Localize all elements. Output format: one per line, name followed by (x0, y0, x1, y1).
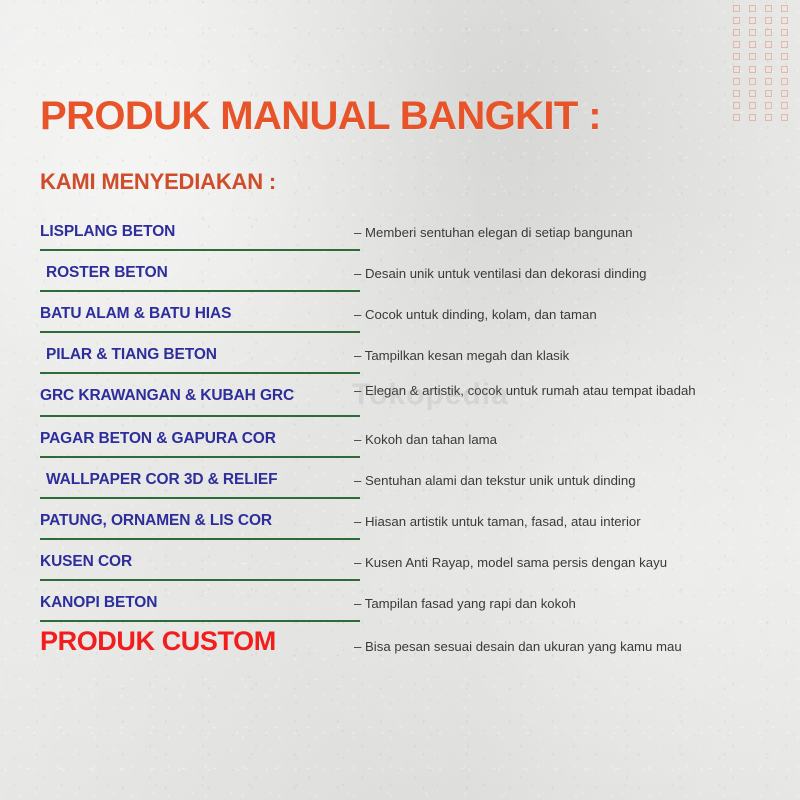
product-list: LISPLANG BETON – Memberi sentuhan elegan… (0, 213, 800, 666)
grid-square-icon (733, 5, 740, 12)
product-label: GRC KRAWANGAN & KUBAH GRC (40, 388, 294, 404)
grid-square-icon (765, 114, 772, 121)
grid-square-icon (781, 5, 788, 12)
decorative-square-grid-icon (728, 2, 792, 124)
grid-square-icon (749, 29, 756, 36)
row-divider (40, 538, 360, 540)
grid-square-icon (781, 53, 788, 60)
row-divider (40, 331, 360, 333)
grid-square-icon (781, 29, 788, 36)
product-label: ROSTER BETON (46, 265, 168, 281)
list-item: PAGAR BETON & GAPURA COR – Kokoh dan tah… (0, 420, 800, 461)
list-item-custom: PRODUK CUSTOM – Bisa pesan sesuai desain… (0, 625, 800, 666)
section-subtitle: KAMI MENYEDIAKAN : (40, 171, 276, 193)
grid-square-icon (781, 90, 788, 97)
grid-square-icon (765, 66, 772, 73)
product-label: PAGAR BETON & GAPURA COR (40, 431, 276, 447)
product-label: PILAR & TIANG BETON (46, 347, 217, 363)
row-divider (40, 249, 360, 251)
grid-square-icon (733, 90, 740, 97)
grid-square-icon (765, 5, 772, 12)
grid-square-icon (733, 102, 740, 109)
grid-square-icon (765, 78, 772, 85)
grid-square-icon (781, 114, 788, 121)
product-label: PATUNG, ORNAMEN & LIS COR (40, 513, 272, 529)
grid-square-icon (733, 78, 740, 85)
grid-square-icon (749, 5, 756, 12)
grid-square-icon (781, 41, 788, 48)
grid-square-icon (765, 102, 772, 109)
grid-square-icon (765, 90, 772, 97)
grid-square-icon (749, 78, 756, 85)
grid-square-icon (781, 66, 788, 73)
list-item: BATU ALAM & BATU HIAS – Cocok untuk dind… (0, 295, 800, 336)
product-label: LISPLANG BETON (40, 224, 175, 240)
grid-square-icon (749, 66, 756, 73)
row-divider (40, 290, 360, 292)
grid-square-icon (765, 29, 772, 36)
page-title: PRODUK MANUAL BANGKIT : (40, 96, 601, 136)
list-item: GRC KRAWANGAN & KUBAH GRC – Elegan & art… (0, 377, 800, 420)
product-label-custom: PRODUK CUSTOM (40, 628, 276, 655)
grid-square-icon (765, 41, 772, 48)
grid-square-icon (781, 78, 788, 85)
list-item: KANOPI BETON – Tampilan fasad yang rapi … (0, 584, 800, 625)
grid-square-icon (733, 29, 740, 36)
grid-square-icon (749, 90, 756, 97)
grid-square-icon (733, 17, 740, 24)
poster-canvas: PRODUK MANUAL BANGKIT : KAMI MENYEDIAKAN… (0, 0, 800, 800)
grid-square-icon (733, 53, 740, 60)
grid-square-icon (749, 41, 756, 48)
grid-square-icon (765, 53, 772, 60)
row-divider (40, 415, 360, 417)
product-description: – Memberi sentuhan elegan di setiap bang… (354, 225, 633, 242)
product-description: – Kokoh dan tahan lama (354, 432, 497, 449)
product-description: – Elegan & artistik, cocok untuk rumah a… (354, 383, 744, 400)
product-label: KUSEN COR (40, 554, 132, 570)
product-label: BATU ALAM & BATU HIAS (40, 306, 231, 322)
list-item: ROSTER BETON – Desain unik untuk ventila… (0, 254, 800, 295)
grid-square-icon (749, 53, 756, 60)
list-item: PILAR & TIANG BETON – Tampilkan kesan me… (0, 336, 800, 377)
product-description: – Bisa pesan sesuai desain dan ukuran ya… (354, 639, 682, 656)
product-label: KANOPI BETON (40, 595, 157, 611)
product-description: – Kusen Anti Rayap, model sama persis de… (354, 555, 667, 572)
product-description: – Hiasan artistik untuk taman, fasad, at… (354, 514, 641, 531)
row-divider (40, 497, 360, 499)
product-description: – Cocok untuk dinding, kolam, dan taman (354, 307, 597, 324)
grid-square-icon (781, 102, 788, 109)
row-divider (40, 456, 360, 458)
grid-square-icon (781, 17, 788, 24)
row-divider (40, 579, 360, 581)
grid-square-icon (749, 17, 756, 24)
row-divider (40, 372, 360, 374)
row-divider (40, 620, 360, 622)
list-item: PATUNG, ORNAMEN & LIS COR – Hiasan artis… (0, 502, 800, 543)
product-description: – Sentuhan alami dan tekstur unik untuk … (354, 473, 636, 490)
grid-square-icon (749, 114, 756, 121)
grid-square-icon (765, 17, 772, 24)
grid-square-icon (749, 102, 756, 109)
product-label: WALLPAPER COR 3D & RELIEF (46, 472, 277, 488)
grid-square-icon (733, 66, 740, 73)
list-item: KUSEN COR – Kusen Anti Rayap, model sama… (0, 543, 800, 584)
product-description: – Desain unik untuk ventilasi dan dekora… (354, 266, 647, 283)
grid-square-icon (733, 114, 740, 121)
list-item: WALLPAPER COR 3D & RELIEF – Sentuhan ala… (0, 461, 800, 502)
grid-square-icon (733, 41, 740, 48)
product-description: – Tampilan fasad yang rapi dan kokoh (354, 596, 576, 613)
list-item: LISPLANG BETON – Memberi sentuhan elegan… (0, 213, 800, 254)
product-description: – Tampilkan kesan megah dan klasik (354, 348, 569, 365)
